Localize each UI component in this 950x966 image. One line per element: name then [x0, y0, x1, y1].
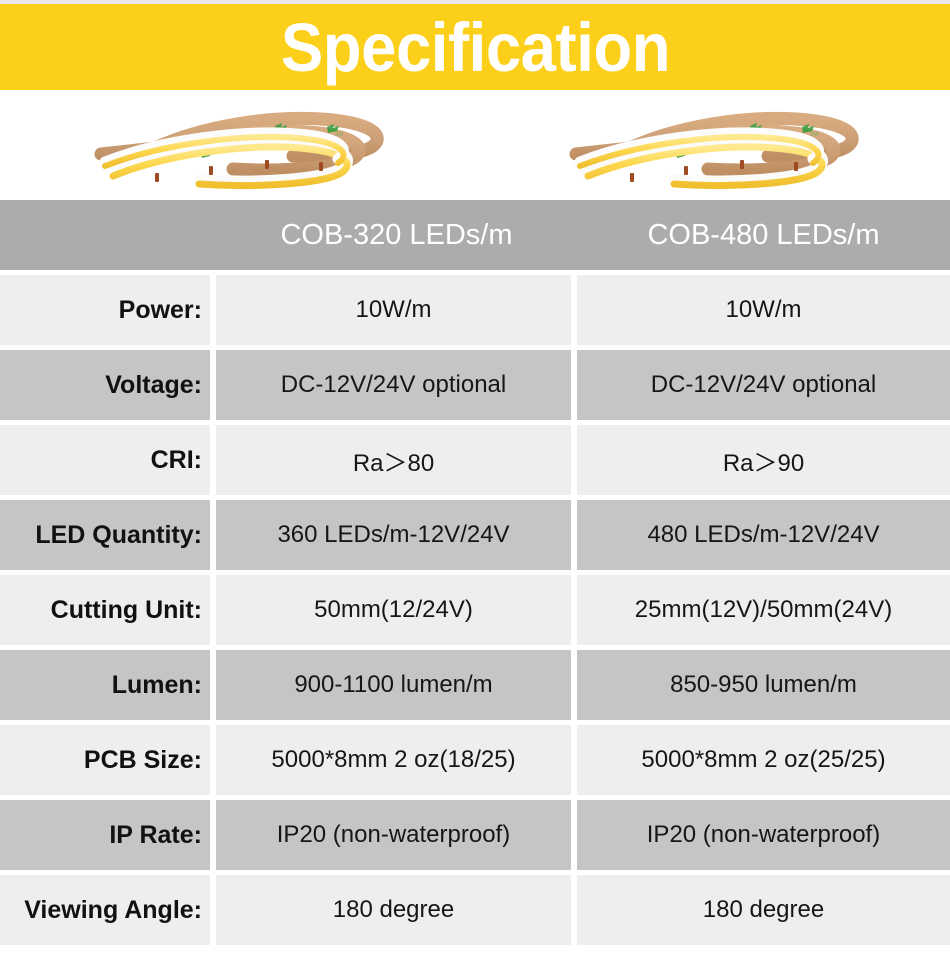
row-value-voltage-cob320: DC-12V/24V optional	[216, 350, 577, 425]
row-value-led-quantity-cob480: 480 LEDs/m-12V/24V	[577, 500, 950, 575]
row-value-viewing-angle-cob320: 180 degree	[216, 875, 577, 950]
table-row: IP Rate: IP20 (non-waterproof) IP20 (non…	[0, 800, 950, 875]
row-value-power-cob480: 10W/m	[577, 275, 950, 350]
row-value-lumen-cob320: 900-1100 lumen/m	[216, 650, 577, 725]
row-label-power: Power:	[0, 275, 216, 350]
table-row: Viewing Angle: 180 degree 180 degree	[0, 875, 950, 950]
led-strip-coil-icon: 3M 3M 3M	[83, 96, 393, 192]
led-strip-coil-icon: 3M 3M 3M	[558, 96, 868, 192]
table-row: LED Quantity: 360 LEDs/m-12V/24V 480 LED…	[0, 500, 950, 575]
header-label-blank	[0, 200, 216, 275]
page-title: Specification	[280, 13, 669, 82]
row-value-pcb-size-cob320: 5000*8mm 2 oz(18/25)	[216, 725, 577, 800]
row-value-ip-rate-cob480: IP20 (non-waterproof)	[577, 800, 950, 875]
row-value-pcb-size-cob480: 5000*8mm 2 oz(25/25)	[577, 725, 950, 800]
product-photo-cob-480: 3M 3M 3M	[475, 90, 950, 200]
row-label-ip-rate: IP Rate:	[0, 800, 216, 875]
title-banner: Specification	[0, 4, 950, 90]
table-row: Power: 10W/m 10W/m	[0, 275, 950, 350]
row-label-cri: CRI:	[0, 425, 216, 500]
row-value-ip-rate-cob320: IP20 (non-waterproof)	[216, 800, 577, 875]
product-photo-cob-320: 3M 3M 3M	[0, 90, 475, 200]
row-label-cutting-unit: Cutting Unit:	[0, 575, 216, 650]
row-label-voltage: Voltage:	[0, 350, 216, 425]
table-row: CRI: Ra＞80 Ra＞90	[0, 425, 950, 500]
row-value-voltage-cob480: DC-12V/24V optional	[577, 350, 950, 425]
row-label-viewing-angle: Viewing Angle:	[0, 875, 216, 950]
row-value-cri-cob320: Ra＞80	[216, 425, 577, 500]
table-row: Voltage: DC-12V/24V optional DC-12V/24V …	[0, 350, 950, 425]
row-label-pcb-size: PCB Size:	[0, 725, 216, 800]
product-photo-band: 3M 3M 3M	[0, 90, 950, 200]
table-row: Lumen: 900-1100 lumen/m 850-950 lumen/m	[0, 650, 950, 725]
table-body: Power: 10W/m 10W/m Voltage: DC-12V/24V o…	[0, 275, 950, 950]
row-value-cutting-unit-cob320: 50mm(12/24V)	[216, 575, 577, 650]
row-value-cri-cob480: Ra＞90	[577, 425, 950, 500]
row-label-lumen: Lumen:	[0, 650, 216, 725]
row-value-lumen-cob480: 850-950 lumen/m	[577, 650, 950, 725]
table-header: COB-320 LEDs/m COB-480 LEDs/m	[0, 200, 950, 275]
row-label-led-quantity: LED Quantity:	[0, 500, 216, 575]
row-value-led-quantity-cob320: 360 LEDs/m-12V/24V	[216, 500, 577, 575]
specification-table: COB-320 LEDs/m COB-480 LEDs/m Power: 10W…	[0, 200, 950, 950]
specification-page: Specification	[0, 0, 950, 966]
row-value-power-cob320: 10W/m	[216, 275, 577, 350]
table-row: PCB Size: 5000*8mm 2 oz(18/25) 5000*8mm …	[0, 725, 950, 800]
row-value-viewing-angle-cob480: 180 degree	[577, 875, 950, 950]
header-column-cob-480: COB-480 LEDs/m	[577, 200, 950, 275]
header-column-cob-320: COB-320 LEDs/m	[216, 200, 577, 275]
table-header-row: COB-320 LEDs/m COB-480 LEDs/m	[0, 200, 950, 275]
table-row: Cutting Unit: 50mm(12/24V) 25mm(12V)/50m…	[0, 575, 950, 650]
row-value-cutting-unit-cob480: 25mm(12V)/50mm(24V)	[577, 575, 950, 650]
